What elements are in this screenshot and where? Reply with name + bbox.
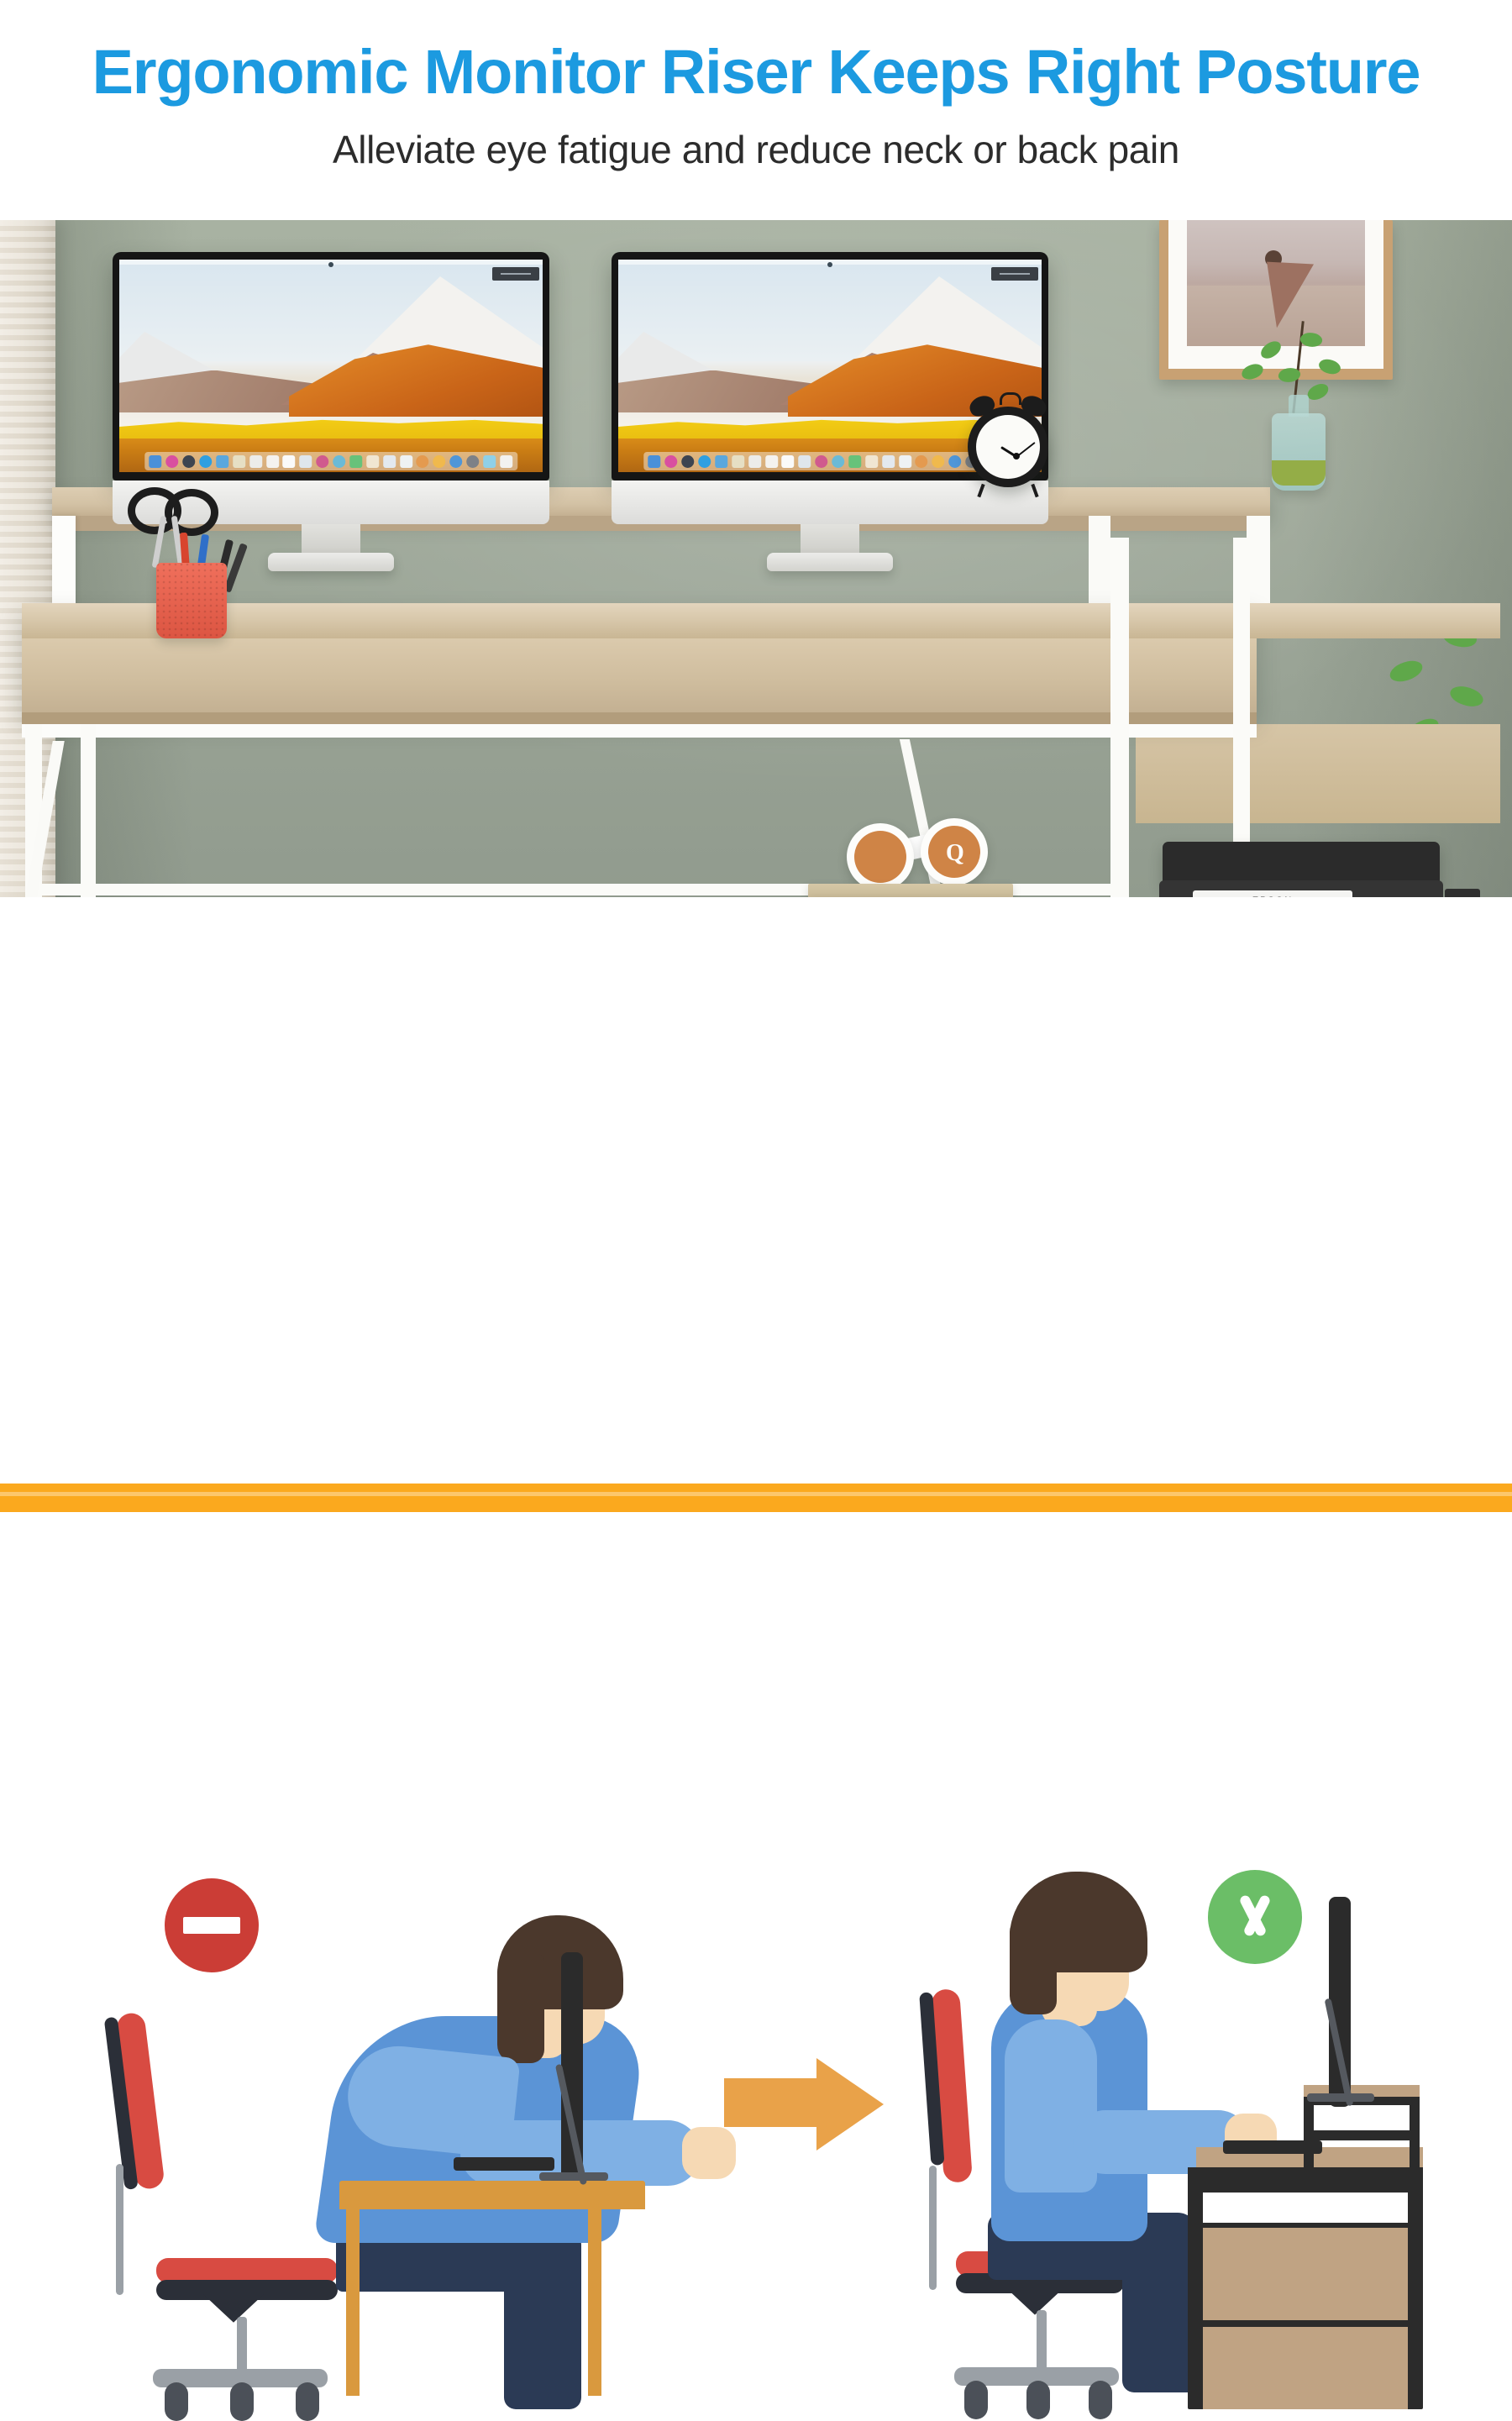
page-title: Ergonomic Monitor Riser Keeps Right Post… bbox=[0, 37, 1512, 108]
cabinet-drawer bbox=[1203, 2228, 1408, 2320]
dock-icon-safari[interactable] bbox=[199, 455, 212, 468]
person-upper-arm bbox=[1005, 2019, 1097, 2193]
macos-dock[interactable] bbox=[643, 452, 1016, 470]
printer-control-panel[interactable]: EPSON L355 bbox=[1193, 890, 1352, 897]
posture-comparison-illustration bbox=[0, 897, 1512, 1512]
arrow-head bbox=[816, 2058, 884, 2151]
dock-icon-messages[interactable] bbox=[333, 455, 345, 468]
scissors-icon bbox=[128, 487, 208, 575]
book bbox=[808, 884, 1013, 897]
transition-arrow bbox=[724, 2058, 892, 2151]
left-monitor-bezel bbox=[113, 252, 549, 481]
dock-icon-notes[interactable] bbox=[765, 455, 778, 468]
dock-icon-notes[interactable] bbox=[266, 455, 279, 468]
desk-rail bbox=[22, 724, 1257, 738]
dock-icon-reminders[interactable] bbox=[283, 455, 296, 468]
bad-desk-leg bbox=[346, 2203, 360, 2396]
minus-icon bbox=[183, 1917, 240, 1934]
right-monitor-foot bbox=[767, 553, 893, 571]
dock-icon-calendar[interactable] bbox=[249, 455, 262, 468]
arrow-shaft bbox=[724, 2078, 823, 2127]
plant-leaf bbox=[1447, 681, 1485, 712]
dock-icon-itunes[interactable] bbox=[366, 455, 379, 468]
dock-icon-reminders[interactable] bbox=[782, 455, 795, 468]
headphone-earcup bbox=[847, 823, 914, 890]
dock-icon-notes-yellow[interactable] bbox=[433, 455, 446, 468]
dock-icon-messages[interactable] bbox=[832, 455, 844, 468]
dock-icon-siri[interactable] bbox=[665, 455, 678, 468]
dock-icon-airdrop[interactable] bbox=[449, 455, 462, 468]
chair-caster bbox=[1089, 2381, 1112, 2419]
dock-icon-appstore[interactable] bbox=[417, 455, 429, 468]
dock-icon-appstore[interactable] bbox=[916, 455, 928, 468]
wall-art-figure-dress bbox=[1263, 262, 1314, 330]
dock-icon-itunes[interactable] bbox=[865, 455, 878, 468]
vase-woven-band bbox=[1272, 460, 1326, 486]
dock-icon-facetime[interactable] bbox=[848, 455, 861, 468]
dock-icon-finder[interactable] bbox=[648, 455, 661, 468]
chair-frame-arm bbox=[116, 2164, 123, 2295]
riser-shelf-divider bbox=[1307, 2130, 1416, 2140]
dock-icon-finder[interactable] bbox=[150, 455, 162, 468]
dock-icon-maps[interactable] bbox=[300, 455, 312, 468]
desk-front-edge bbox=[22, 712, 1257, 724]
chair-caster bbox=[296, 2382, 319, 2421]
good-keyboard bbox=[1223, 2140, 1322, 2154]
dock-icon-airdrop[interactable] bbox=[948, 455, 961, 468]
bad-keyboard bbox=[454, 2157, 554, 2171]
chair-backrest bbox=[115, 2012, 165, 2191]
dock-icon-launchpad[interactable] bbox=[182, 455, 195, 468]
desk-leg bbox=[81, 724, 96, 897]
chair-cone bbox=[1005, 2287, 1065, 2315]
dock-icon-keynote[interactable] bbox=[400, 455, 412, 468]
webcam-icon bbox=[328, 262, 333, 267]
dock-icon-photos[interactable] bbox=[815, 455, 827, 468]
desk-leg bbox=[1110, 538, 1129, 897]
dock-icon-trash[interactable] bbox=[500, 455, 512, 468]
pen-cup bbox=[156, 563, 227, 638]
page-subtitle: Alleviate eye fatigue and reduce neck or… bbox=[0, 126, 1512, 173]
dock-icon-siri[interactable] bbox=[166, 455, 179, 468]
person-hair-back bbox=[497, 1954, 544, 2063]
left-monitor-screen bbox=[119, 260, 543, 472]
dock-icon-maps[interactable] bbox=[799, 455, 811, 468]
cabinet-drawer bbox=[1203, 2327, 1408, 2409]
dock-icon-calendar[interactable] bbox=[748, 455, 761, 468]
bottom-accent-bar bbox=[0, 1484, 1512, 1512]
dock-icon-facetime[interactable] bbox=[349, 455, 362, 468]
left-monitor-neck bbox=[302, 524, 360, 553]
dock-icon-photos[interactable] bbox=[316, 455, 328, 468]
dock-icon-notes-yellow[interactable] bbox=[932, 455, 945, 468]
desk-right-surface bbox=[1136, 724, 1500, 823]
wall-art-image bbox=[1187, 220, 1365, 346]
chair-frame-arm bbox=[929, 2166, 937, 2290]
left-monitor-foot bbox=[268, 553, 394, 571]
no-badge bbox=[165, 1878, 259, 1972]
headphone-logo: Q bbox=[946, 840, 964, 867]
printer: EPSON L355 bbox=[1159, 842, 1477, 897]
monitor-base bbox=[539, 2172, 608, 2181]
alarm-clock bbox=[968, 407, 1048, 487]
chair-cone bbox=[202, 2293, 265, 2323]
printer-ink-tank bbox=[1445, 889, 1480, 897]
dock-icon-settings[interactable] bbox=[466, 455, 479, 468]
person-hair-back bbox=[1010, 1914, 1057, 2014]
clock-face bbox=[976, 415, 1040, 479]
ok-badge bbox=[1208, 1870, 1302, 1964]
desktop-window[interactable] bbox=[492, 267, 539, 281]
clock-handle bbox=[1000, 392, 1021, 405]
chair-caster bbox=[1026, 2381, 1050, 2419]
dock-icon-numbers[interactable] bbox=[882, 455, 895, 468]
bad-desk-leg bbox=[588, 2203, 601, 2396]
dock-icon-safari[interactable] bbox=[698, 455, 711, 468]
dock-icon-keynote[interactable] bbox=[899, 455, 911, 468]
chair-caster bbox=[964, 2381, 988, 2419]
printer-lid bbox=[1163, 842, 1440, 885]
plant-leaf bbox=[1388, 659, 1425, 684]
wall-art-frame bbox=[1159, 220, 1393, 380]
chair-caster bbox=[230, 2382, 254, 2421]
wallpaper bbox=[119, 260, 543, 472]
webcam-icon bbox=[827, 262, 832, 267]
dock-icon-launchpad[interactable] bbox=[681, 455, 694, 468]
dock-icon-numbers[interactable] bbox=[383, 455, 396, 468]
dock-icon-contacts[interactable] bbox=[732, 455, 744, 468]
product-photo: Q THRIFT EPSON bbox=[0, 220, 1512, 897]
dock-icon-mail[interactable] bbox=[715, 455, 727, 468]
dock-icon-contacts[interactable] bbox=[233, 455, 245, 468]
product-infographic-page: Ergonomic Monitor Riser Keeps Right Post… bbox=[0, 0, 1512, 1512]
clock-center-pin bbox=[1013, 453, 1020, 460]
person-thigh bbox=[504, 2233, 581, 2409]
macos-dock[interactable] bbox=[144, 452, 517, 470]
chair-backrest bbox=[931, 1988, 973, 2183]
dock-icon-downloads[interactable] bbox=[483, 455, 496, 468]
desktop-window[interactable] bbox=[991, 267, 1038, 281]
right-monitor-neck bbox=[801, 524, 859, 553]
chair-caster bbox=[165, 2382, 188, 2421]
cabinet-gap bbox=[1203, 2193, 1408, 2223]
dock-icon-mail[interactable] bbox=[216, 455, 228, 468]
header-section: Ergonomic Monitor Riser Keeps Right Post… bbox=[0, 0, 1512, 220]
monitor-base bbox=[1307, 2093, 1374, 2102]
desk-top-edge bbox=[22, 603, 1500, 638]
